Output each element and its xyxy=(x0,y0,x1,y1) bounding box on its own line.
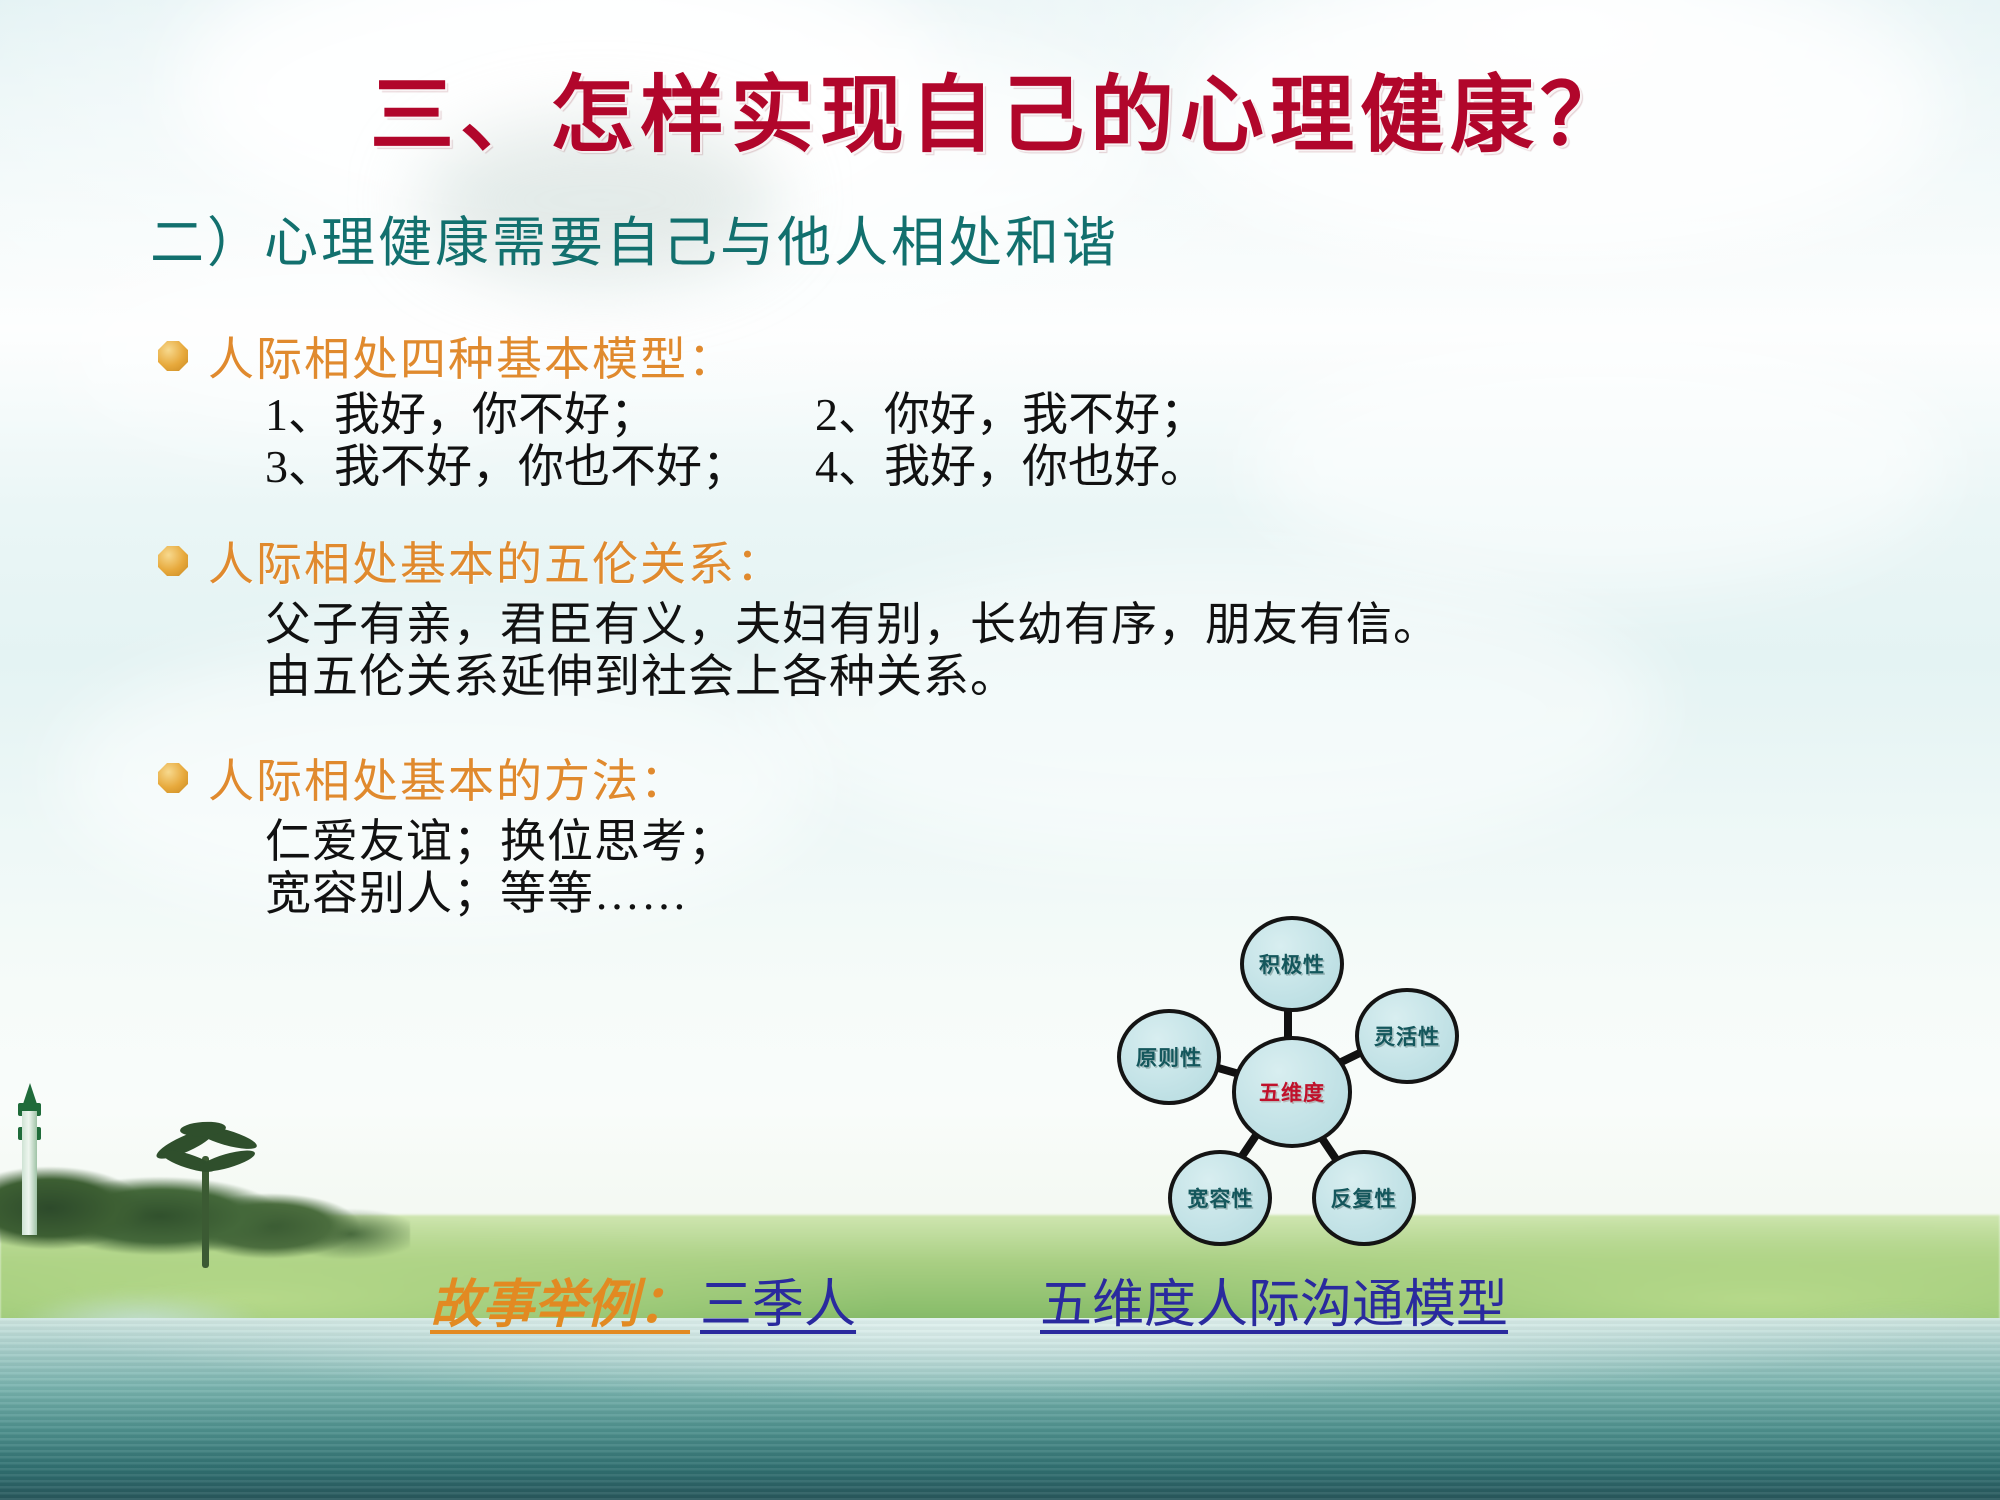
model-cell: 4、我好，你也好。 xyxy=(815,441,1206,492)
method-line-2: 宽容别人；等等…… xyxy=(265,857,688,923)
section-subtitle: 二）心理健康需要自己与他人相处和谐 xyxy=(150,198,1119,277)
diagram-node-left[interactable]: 原则性 xyxy=(1117,1009,1221,1105)
story-caption: 故事举例：三季人 xyxy=(430,1262,856,1337)
model-cell: 3、我不好，你也不好； xyxy=(265,430,700,496)
diagram-node-bottom-left[interactable]: 宽容性 xyxy=(1168,1150,1272,1246)
story-link[interactable]: 三季人 xyxy=(700,1277,856,1334)
palm-tree xyxy=(150,1120,270,1270)
octagon-bullet-icon xyxy=(158,546,188,576)
bullet-item-methods: 人际相处基本的方法： xyxy=(158,745,688,811)
bullet-item-wulun: 人际相处基本的五伦关系： xyxy=(158,528,784,594)
diagram-node-right[interactable]: 灵活性 xyxy=(1355,988,1459,1084)
diagram-node-bottom-right[interactable]: 反复性 xyxy=(1312,1150,1416,1246)
diagram-node-center[interactable]: 五维度 xyxy=(1232,1036,1352,1147)
slide-canvas: 三、怎样实现自己的心理健康？ 二）心理健康需要自己与他人相处和谐 人际相处四种基… xyxy=(0,0,2000,1500)
octagon-bullet-icon xyxy=(158,763,188,793)
lighthouse xyxy=(12,1075,48,1235)
five-dimension-diagram: 积极性 灵活性 反复性 宽容性 原则性 五维度 xyxy=(1060,880,1480,1280)
diagram-node-top[interactable]: 积极性 xyxy=(1240,916,1344,1012)
page-title: 三、怎样实现自己的心理健康？ xyxy=(0,48,2000,169)
wulun-line-2: 由五伦关系延伸到社会上各种关系。 xyxy=(265,640,1017,706)
model-row-2: 3、我不好，你也不好；4、我好，你也好。 xyxy=(265,430,1206,496)
bullet-label: 人际相处基本的方法： xyxy=(208,745,688,811)
bullet-label: 人际相处基本的五伦关系： xyxy=(208,528,784,594)
diagram-caption[interactable]: 五维度人际沟通模型 xyxy=(1040,1262,1508,1337)
water-band xyxy=(0,1318,2000,1500)
octagon-bullet-icon xyxy=(158,341,188,371)
story-label: 故事举例： xyxy=(430,1277,690,1334)
cloud-wisp xyxy=(1250,330,1950,590)
